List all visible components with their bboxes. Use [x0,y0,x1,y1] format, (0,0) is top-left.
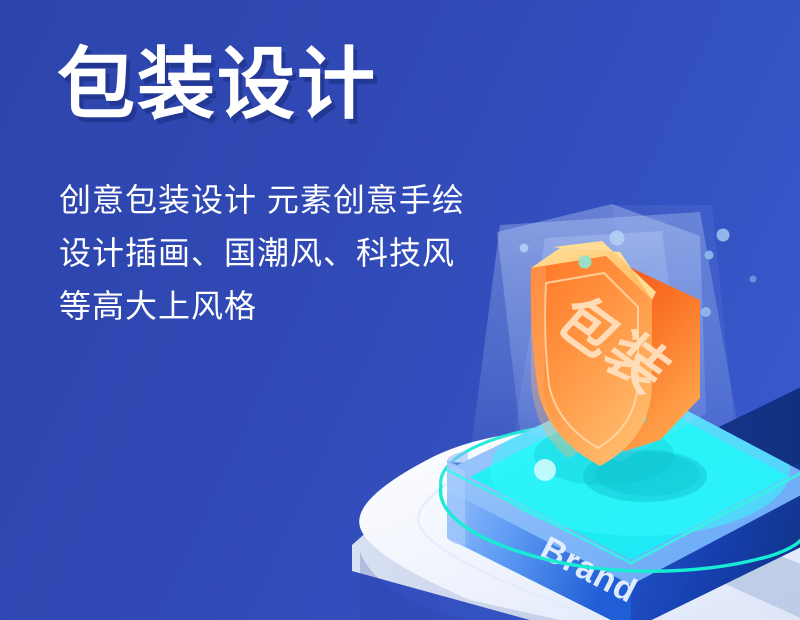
text-block: 包装设计 创意包装设计 元素创意手绘 设计插画、国潮风、科技风 等高大上风格 [57,36,577,333]
subtitle-group: 创意包装设计 元素创意手绘 设计插画、国潮风、科技风 等高大上风格 [59,174,577,333]
banner-root: Brand [0,0,800,620]
page-title: 包装设计 [57,36,577,132]
subtitle-line-3: 等高大上风格 [59,280,577,333]
subtitle-line-1: 创意包装设计 元素创意手绘 [59,174,577,227]
subtitle-line-2: 设计插画、国潮风、科技风 [59,227,577,280]
